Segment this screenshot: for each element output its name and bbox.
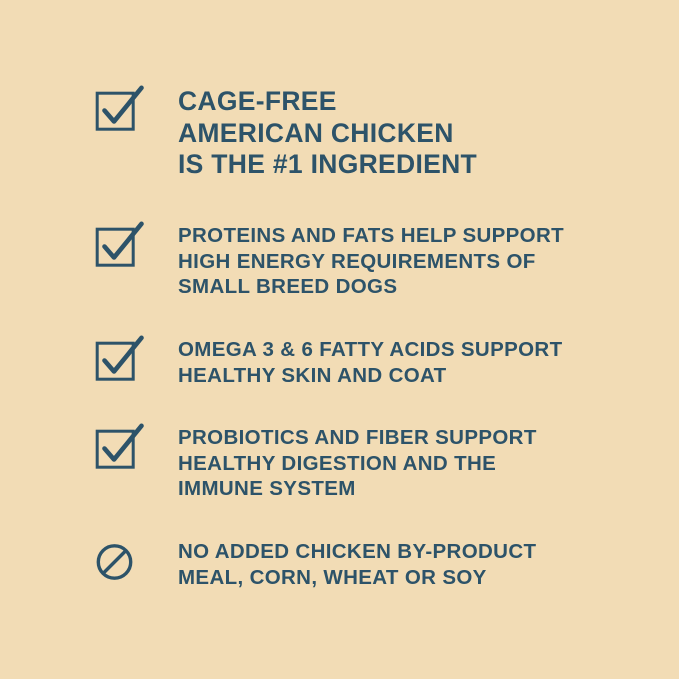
benefit-line: AMERICAN CHICKEN — [178, 118, 477, 150]
benefit-line: OMEGA 3 & 6 FATTY ACIDS SUPPORT — [178, 337, 562, 363]
benefit-text: CAGE-FREE AMERICAN CHICKEN IS THE #1 ING… — [178, 86, 477, 181]
checkbox-checked-icon — [95, 86, 178, 132]
benefit-text: PROBIOTICS AND FIBER SUPPORT HEALTHY DIG… — [178, 424, 537, 502]
benefit-line: NO ADDED CHICKEN BY-PRODUCT — [178, 539, 536, 565]
benefit-item: NO ADDED CHICKEN BY-PRODUCT MEAL, CORN, … — [95, 538, 536, 590]
benefit-list: CAGE-FREE AMERICAN CHICKEN IS THE #1 ING… — [0, 0, 679, 679]
benefit-line: HEALTHY SKIN AND COAT — [178, 363, 562, 389]
benefit-line: PROTEINS AND FATS HELP SUPPORT — [178, 223, 564, 249]
checkbox-checked-icon — [95, 424, 178, 470]
checkbox-checked-icon — [95, 222, 178, 268]
benefit-item: PROBIOTICS AND FIBER SUPPORT HEALTHY DIG… — [95, 424, 537, 502]
benefit-line: HIGH ENERGY REQUIREMENTS OF — [178, 249, 564, 275]
benefit-item: PROTEINS AND FATS HELP SUPPORT HIGH ENER… — [95, 222, 564, 300]
prohibition-no-entry-icon — [95, 538, 178, 584]
benefit-text: PROTEINS AND FATS HELP SUPPORT HIGH ENER… — [178, 222, 564, 300]
benefit-text: NO ADDED CHICKEN BY-PRODUCT MEAL, CORN, … — [178, 538, 536, 590]
checkbox-checked-icon — [95, 336, 178, 382]
benefit-line: IMMUNE SYSTEM — [178, 476, 537, 502]
benefit-line: CAGE-FREE — [178, 86, 477, 118]
benefit-line: PROBIOTICS AND FIBER SUPPORT — [178, 425, 537, 451]
benefit-text: OMEGA 3 & 6 FATTY ACIDS SUPPORT HEALTHY … — [178, 336, 562, 388]
benefit-line: MEAL, CORN, WHEAT OR SOY — [178, 565, 536, 591]
benefits-panel: CAGE-FREE AMERICAN CHICKEN IS THE #1 ING… — [0, 0, 679, 679]
benefit-line: IS THE #1 INGREDIENT — [178, 149, 477, 181]
benefit-item: OMEGA 3 & 6 FATTY ACIDS SUPPORT HEALTHY … — [95, 336, 562, 388]
benefit-line: HEALTHY DIGESTION AND THE — [178, 451, 537, 477]
benefit-line: SMALL BREED DOGS — [178, 274, 564, 300]
benefit-item: CAGE-FREE AMERICAN CHICKEN IS THE #1 ING… — [95, 86, 477, 181]
